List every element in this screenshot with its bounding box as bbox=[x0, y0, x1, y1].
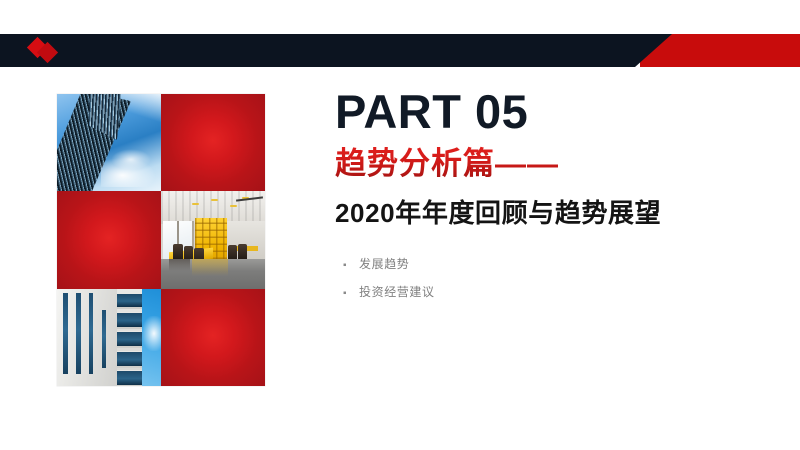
header-band bbox=[0, 34, 800, 67]
image-tile-grid bbox=[57, 94, 265, 386]
slide-canvas: PART 05 趋势分析篇—— 2020年年度回顾与趋势展望 ▪ 发展趋势 ▪ … bbox=[0, 0, 800, 450]
title-block: PART 05 趋势分析篇—— 2020年年度回顾与趋势展望 ▪ 发展趋势 ▪ … bbox=[335, 86, 780, 313]
floor-reflection-dark bbox=[169, 259, 190, 271]
red-gradient-tile-3 bbox=[161, 289, 265, 386]
red-gradient-tile-1 bbox=[161, 94, 265, 191]
office-chair-shape bbox=[173, 244, 182, 261]
balcony-stack-shape bbox=[117, 289, 144, 386]
bullet-marker-icon: ▪ bbox=[343, 288, 359, 300]
window-slit bbox=[76, 293, 80, 375]
balcony-floor bbox=[117, 312, 144, 329]
page-title: PART 05 bbox=[335, 86, 780, 139]
building-facade-photo bbox=[57, 289, 161, 386]
section-subtitle-dark: 2020年年度回顾与趋势展望 bbox=[335, 197, 780, 231]
section-subtitle-red: 趋势分析篇—— bbox=[335, 145, 780, 184]
bullet-list: ▪ 发展趋势 ▪ 投资经营建议 bbox=[335, 257, 780, 300]
cloud-shape-secondary bbox=[111, 149, 151, 170]
stone-wall-shape bbox=[57, 289, 121, 386]
ceiling-beam-shape bbox=[236, 196, 263, 201]
window-slit bbox=[63, 293, 67, 375]
red-gradient-tile-2 bbox=[57, 191, 161, 288]
cloud-shape bbox=[142, 316, 161, 351]
diamond-logo bbox=[28, 39, 72, 63]
balcony-floor bbox=[117, 370, 144, 386]
list-item-label: 投资经营建议 bbox=[359, 285, 435, 299]
list-item-label: 发展趋势 bbox=[359, 257, 409, 271]
balcony-floor bbox=[117, 331, 144, 348]
window-slit bbox=[102, 310, 106, 368]
list-item: ▪ 发展趋势 bbox=[343, 257, 780, 272]
bullet-marker-icon: ▪ bbox=[343, 260, 359, 272]
office-chair-shape bbox=[238, 244, 247, 261]
polished-floor-shape bbox=[161, 259, 265, 288]
blue-sky-shape bbox=[142, 289, 161, 386]
floor-reflection bbox=[192, 259, 227, 276]
window-slit bbox=[89, 293, 93, 375]
skyscrapers-upward-photo bbox=[57, 94, 161, 191]
balcony-floor bbox=[117, 293, 144, 310]
ceiling-lamp-icon bbox=[192, 203, 199, 205]
balcony-floor bbox=[117, 351, 144, 368]
header-dark-bar bbox=[0, 34, 672, 67]
list-item: ▪ 投资经营建议 bbox=[343, 285, 780, 300]
ceiling-lamp-icon bbox=[230, 205, 237, 207]
office-interior-photo bbox=[161, 191, 265, 288]
ceiling-lamp-icon bbox=[211, 199, 218, 201]
